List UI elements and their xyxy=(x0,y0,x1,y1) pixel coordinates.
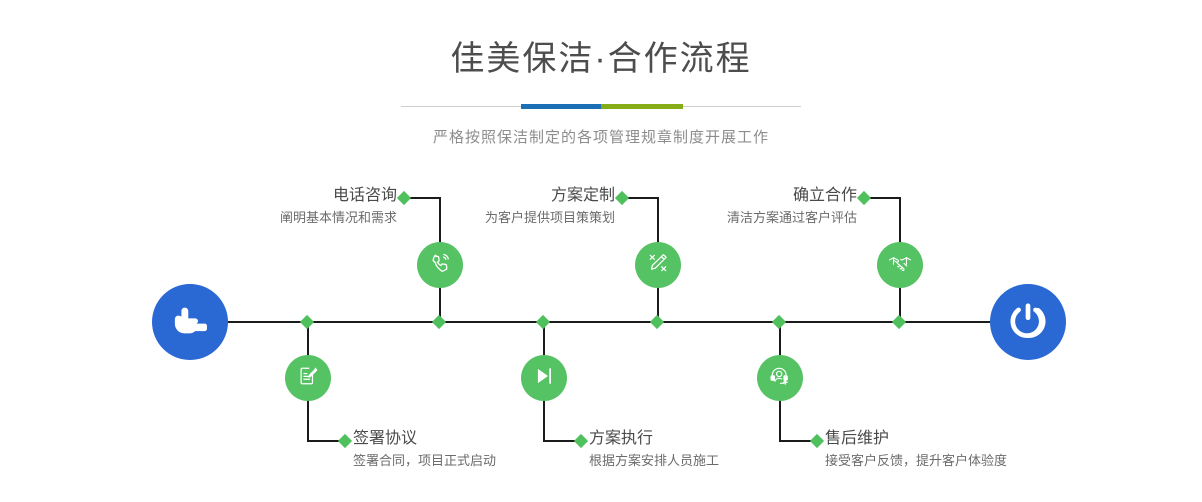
flow-start-endpoint[interactable] xyxy=(152,284,228,360)
step-icon-1[interactable] xyxy=(417,242,463,288)
page-title: 佳美保洁·合作流程 xyxy=(0,0,1202,76)
step-title-2: 签署协议 xyxy=(353,430,603,448)
step-label-5: 确立合作 清洁方案通过客户评估 xyxy=(620,187,857,227)
step-title-1: 电话咨询 xyxy=(155,187,397,205)
step-icon-4[interactable] xyxy=(521,355,567,401)
flow-end-endpoint[interactable] xyxy=(990,284,1066,360)
step-desc-2: 签署合同，项目正式启动 xyxy=(353,452,603,470)
timeline-diamond-2 xyxy=(300,315,314,329)
headset-support-icon xyxy=(767,363,793,394)
step-label-2: 签署协议 签署合同，项目正式启动 xyxy=(353,430,603,470)
step-label-diamond-2 xyxy=(338,434,352,448)
timeline-diamond-6 xyxy=(772,315,786,329)
page-subtitle: 严格按照保洁制定的各项管理规章制度开展工作 xyxy=(0,126,1202,147)
step-label-4: 方案执行 根据方案安排人员施工 xyxy=(589,430,839,470)
process-flow-infographic: 佳美保洁·合作流程 严格按照保洁制定的各项管理规章制度开展工作 xyxy=(0,0,1202,502)
step-title-4: 方案执行 xyxy=(589,430,839,448)
step-title-3: 方案定制 xyxy=(380,187,615,205)
pointing-hand-icon xyxy=(168,298,212,347)
step-label-1: 电话咨询 阐明基本情况和需求 xyxy=(155,187,397,227)
timeline-diamond-5 xyxy=(892,315,906,329)
title-divider xyxy=(401,102,801,112)
step-desc-4: 根据方案安排人员施工 xyxy=(589,452,839,470)
step-icon-5[interactable] xyxy=(877,242,923,288)
timeline-diamond-3 xyxy=(650,315,664,329)
step-connector-down-2 xyxy=(307,400,309,441)
power-icon xyxy=(1006,298,1050,347)
timeline-axis xyxy=(225,321,1003,323)
timeline-diamond-4 xyxy=(536,315,550,329)
step-icon-3[interactable] xyxy=(635,242,681,288)
step-title-6: 售后维护 xyxy=(825,430,1085,448)
step-title-5: 确立合作 xyxy=(620,187,857,205)
header: 佳美保洁·合作流程 严格按照保洁制定的各项管理规章制度开展工作 xyxy=(0,0,1202,147)
step-label-diamond-5 xyxy=(857,191,871,205)
pencil-design-icon xyxy=(645,250,671,281)
handshake-icon xyxy=(887,250,913,281)
step-connector-down-5 xyxy=(899,198,901,244)
divider-blue-segment xyxy=(521,104,601,109)
step-label-3: 方案定制 为客户提供项目策策划 xyxy=(380,187,615,227)
step-connector-horizontal-5 xyxy=(868,197,901,199)
document-edit-icon xyxy=(295,363,321,394)
phone-ring-icon xyxy=(427,250,453,281)
step-icon-2[interactable] xyxy=(285,355,331,401)
step-desc-6: 接受客户反馈，提升客户体验度 xyxy=(825,452,1085,470)
step-desc-5: 清洁方案通过客户评估 xyxy=(620,209,857,227)
step-desc-1: 阐明基本情况和需求 xyxy=(155,209,397,227)
divider-green-segment xyxy=(601,104,683,109)
play-execute-icon xyxy=(531,363,557,394)
step-icon-6[interactable] xyxy=(757,355,803,401)
step-desc-3: 为客户提供项目策策划 xyxy=(380,209,615,227)
step-label-6: 售后维护 接受客户反馈，提升客户体验度 xyxy=(825,430,1085,470)
timeline-diamond-1 xyxy=(432,315,446,329)
